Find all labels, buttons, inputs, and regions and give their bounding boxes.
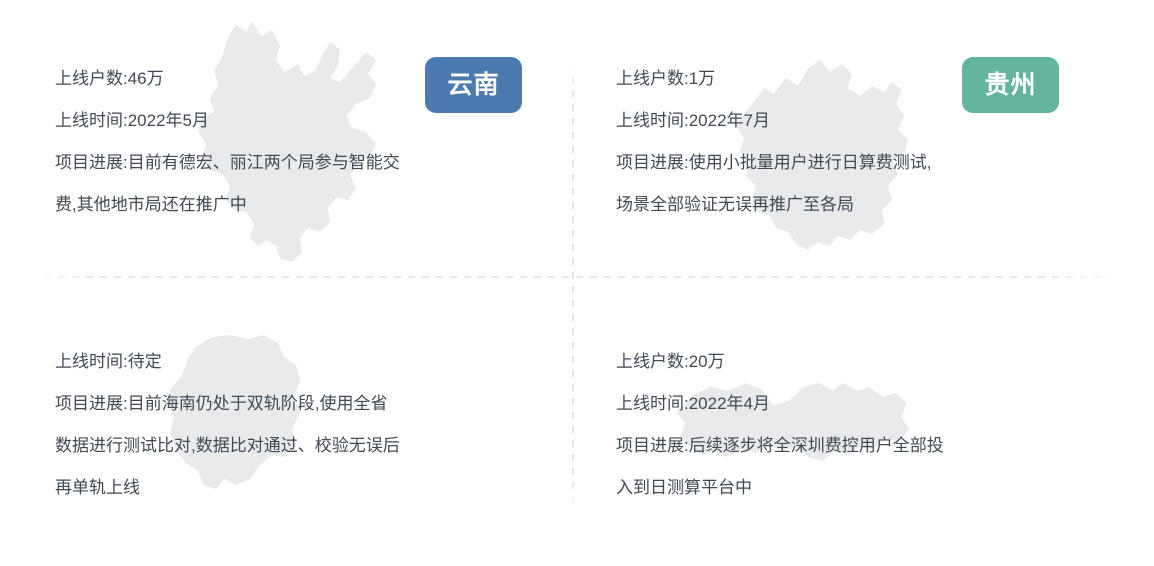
detail-line-online-households: 上线户数:20万 xyxy=(616,341,1086,383)
detail-line-progress-3: 再单轨上线 xyxy=(55,467,525,509)
detail-line-online-date: 上线时间:2022年5月 xyxy=(55,100,525,142)
yunnan-detail-text: 上线户数:46万 上线时间:2022年5月 项目进展:目前有德宏、丽江两个局参与… xyxy=(55,58,525,226)
detail-line-online-households: 上线户数:46万 xyxy=(55,58,525,100)
detail-line-progress-2: 入到日测算平台中 xyxy=(616,467,1086,509)
infographic-canvas: 云南 上线户数:46万 上线时间:2022年5月 项目进展:目前有德宏、丽江两个… xyxy=(0,0,1154,566)
detail-line-progress-2: 场景全部验证无误再推广至各局 xyxy=(616,184,1086,226)
province-card-yunnan: 云南 上线户数:46万 上线时间:2022年5月 项目进展:目前有德宏、丽江两个… xyxy=(0,0,577,283)
detail-line-progress-2: 费,其他地市局还在推广中 xyxy=(55,184,525,226)
detail-line-progress-1: 项目进展:使用小批量用户进行日算费测试, xyxy=(616,142,1086,184)
province-card-hainan: 海南 上线时间:待定 项目进展:目前海南仍处于双轨阶段,使用全省 数据进行测试比… xyxy=(0,283,577,566)
guizhou-detail-text: 上线户数:1万 上线时间:2022年7月 项目进展:使用小批量用户进行日算费测试… xyxy=(616,58,1086,226)
detail-line-progress-1: 项目进展:目前海南仍处于双轨阶段,使用全省 xyxy=(55,383,525,425)
province-card-guizhou: 贵州 上线户数:1万 上线时间:2022年7月 项目进展:使用小批量用户进行日算… xyxy=(577,0,1154,283)
detail-line-progress-2: 数据进行测试比对,数据比对通过、校验无误后 xyxy=(55,425,525,467)
province-card-shenzhen: 深圳 上线户数:20万 上线时间:2022年4月 项目进展:后续逐步将全深圳费控… xyxy=(577,283,1154,566)
shenzhen-detail-text: 上线户数:20万 上线时间:2022年4月 项目进展:后续逐步将全深圳费控用户全… xyxy=(616,341,1086,509)
detail-line-progress-1: 项目进展:目前有德宏、丽江两个局参与智能交 xyxy=(55,142,525,184)
detail-line-online-date: 上线时间:2022年7月 xyxy=(616,100,1086,142)
detail-line-online-households: 上线户数:1万 xyxy=(616,58,1086,100)
hainan-detail-text: 上线时间:待定 项目进展:目前海南仍处于双轨阶段,使用全省 数据进行测试比对,数… xyxy=(55,341,525,509)
detail-line-online-date: 上线时间:待定 xyxy=(55,341,525,383)
detail-line-progress-1: 项目进展:后续逐步将全深圳费控用户全部投 xyxy=(616,425,1086,467)
detail-line-online-date: 上线时间:2022年4月 xyxy=(616,383,1086,425)
